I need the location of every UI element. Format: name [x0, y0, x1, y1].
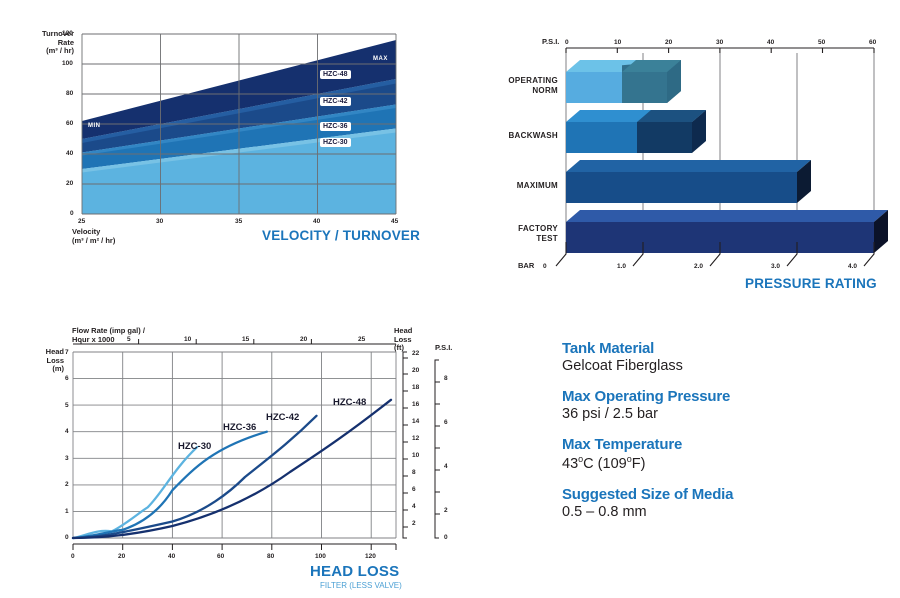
velocity-xtick-40: 40 — [313, 218, 320, 225]
pressure-cat-maximum: MAXIMUM — [470, 181, 558, 191]
headloss-fttick-2: 2 — [412, 520, 416, 527]
headloss-xtick-60: 60 — [217, 553, 224, 560]
spec-value-suggested-size-of-media: 0.5 – 0.8 mm — [562, 504, 892, 520]
pressure-cat-label-factory-test: FACTORY TEST — [470, 224, 558, 244]
headloss-plot-svg — [55, 322, 455, 562]
velocity-ytick-60: 60 — [66, 120, 73, 127]
pressure-bar-axis-label: BAR — [518, 262, 534, 271]
spec-temp-fahrenheit-value: 109 — [603, 456, 627, 472]
velocity-ytick-80: 80 — [66, 90, 73, 97]
velocity-band-label-hzc48: HZC-48 — [320, 70, 351, 79]
headloss-psitick-6: 6 — [444, 419, 448, 426]
headloss-curve-label-hzc36: HZC-36 — [223, 422, 256, 433]
headloss-fttick-22: 22 — [412, 350, 419, 357]
headloss-ytick-1: 1 — [65, 508, 69, 515]
headloss-psitick-8: 8 — [444, 375, 448, 382]
headloss-fttick-12: 12 — [412, 435, 419, 442]
headloss-fttick-4: 4 — [412, 503, 416, 510]
spec-value-max-temperature: 43oC (109oF) — [562, 454, 892, 472]
headloss-curve-label-hzc48: HZC-48 — [333, 397, 366, 408]
velocity-min-label: MIN — [88, 123, 101, 129]
headloss-right-axis-line3: (ft) — [394, 344, 412, 353]
velocity-xtick-25: 25 — [78, 218, 85, 225]
velocity-ytick-40: 40 — [66, 150, 73, 157]
headloss-ytick-7: 7 — [65, 349, 69, 356]
headloss-fttick-20: 20 — [412, 367, 419, 374]
pressure-bar-tick-2: 2.0 — [694, 263, 703, 270]
pressure-rating-chart: P.S.I. 0 10 20 30 40 50 60 — [470, 14, 900, 294]
spec-temp-fahrenheit-unit: F) — [632, 456, 646, 472]
pressure-bar-operating-norm — [566, 60, 681, 103]
spec-item-max-operating-pressure: Max Operating Pressure 36 psi / 2.5 bar — [562, 388, 892, 422]
pressure-bar-tick-3: 3.0 — [771, 263, 780, 270]
specifications-list: Tank Material Gelcoat Fiberglass Max Ope… — [562, 340, 892, 534]
spec-value-max-operating-pressure: 36 psi / 2.5 bar — [562, 406, 892, 422]
pressure-bar-factory-test — [566, 210, 888, 253]
headloss-ytick-2: 2 — [65, 481, 69, 488]
pressure-chart-title: PRESSURE RATING — [745, 276, 877, 291]
headloss-xtick-20: 20 — [118, 553, 125, 560]
velocity-band-label-hzc42: HZC-42 — [320, 97, 351, 106]
velocity-band-label-hzc36: HZC-36 — [320, 122, 351, 131]
spec-item-max-temperature: Max Temperature 43oC (109oF) — [562, 436, 892, 472]
spec-value-tank-material: Gelcoat Fiberglass — [562, 358, 892, 374]
pressure-bar-backwash — [566, 110, 706, 153]
pressure-bar-tick-4: 4.0 — [848, 263, 857, 270]
headloss-psitick-2: 2 — [444, 507, 448, 514]
head-loss-chart: Flow Rate (imp gal) / Hour x 1000 5 10 1… — [10, 322, 460, 592]
headloss-ytick-4: 4 — [65, 428, 69, 435]
headloss-fttick-8: 8 — [412, 469, 416, 476]
headloss-fttick-6: 6 — [412, 486, 416, 493]
velocity-turnover-chart: Turnover Rate (m³ / hr) — [0, 0, 450, 260]
velocity-x-axis-label: Velocity (m³ / m² / hr) — [72, 228, 115, 245]
pressure-cat-label-backwash: BACKWASH — [470, 131, 558, 141]
headloss-ytick-3: 3 — [65, 455, 69, 462]
headloss-right-axis-label: Head Loss (ft) — [394, 327, 412, 353]
pressure-cat-norm: NORM — [470, 86, 558, 96]
headloss-xtick-100: 100 — [315, 553, 326, 560]
velocity-max-label: MAX — [373, 56, 388, 62]
velocity-chart-title: VELOCITY / TURNOVER — [262, 228, 420, 243]
headloss-ytick-6: 6 — [65, 375, 69, 382]
pressure-cat-label-operating-norm: OPERATING NORM — [470, 76, 558, 96]
headloss-fttick-18: 18 — [412, 384, 419, 391]
velocity-ytick-100: 100 — [62, 60, 73, 67]
spec-heading-suggested-size-of-media: Suggested Size of Media — [562, 486, 892, 503]
pressure-bar-tick-0: 0 — [543, 263, 547, 270]
headloss-curve-label-hzc30: HZC-30 — [178, 441, 211, 452]
pressure-cat-factory: FACTORY — [470, 224, 558, 234]
headloss-psi-axis-label: P.S.I. — [435, 344, 452, 353]
spec-item-suggested-size-of-media: Suggested Size of Media 0.5 – 0.8 mm — [562, 486, 892, 520]
spec-temp-celsius-unit: C — [583, 456, 593, 472]
headloss-fttick-10: 10 — [412, 452, 419, 459]
velocity-plot-svg — [48, 26, 418, 256]
velocity-xtick-35: 35 — [235, 218, 242, 225]
headloss-xtick-80: 80 — [267, 553, 274, 560]
headloss-fttick-16: 16 — [412, 401, 419, 408]
pressure-cat-backwash: BACKWASH — [470, 131, 558, 141]
spec-heading-tank-material: Tank Material — [562, 340, 892, 357]
headloss-psitick-4: 4 — [444, 463, 448, 470]
headloss-xtick-120: 120 — [365, 553, 376, 560]
velocity-band-label-hzc30: HZC-30 — [320, 138, 351, 147]
spec-item-tank-material: Tank Material Gelcoat Fiberglass — [562, 340, 892, 374]
pressure-cat-label-maximum: MAXIMUM — [470, 181, 558, 191]
headloss-psitick-0: 0 — [444, 534, 448, 541]
headloss-ytick-5: 5 — [65, 402, 69, 409]
headloss-chart-title: HEAD LOSS — [310, 563, 399, 580]
headloss-fttick-14: 14 — [412, 418, 419, 425]
velocity-ytick-120: 120 — [62, 30, 73, 37]
headloss-curve-label-hzc42: HZC-42 — [266, 412, 299, 423]
spec-temp-celsius-value: 43 — [562, 456, 578, 472]
velocity-ytick-0: 0 — [70, 210, 74, 217]
headloss-ytick-0: 0 — [65, 534, 69, 541]
velocity-ytick-20: 20 — [66, 180, 73, 187]
velocity-xtick-30: 30 — [156, 218, 163, 225]
velocity-x-axis-label-line2: (m³ / m² / hr) — [72, 237, 115, 246]
pressure-bar-tick-1: 1.0 — [617, 263, 626, 270]
spec-heading-max-operating-pressure: Max Operating Pressure — [562, 388, 892, 405]
spec-heading-max-temperature: Max Temperature — [562, 436, 892, 453]
headloss-xtick-0: 0 — [71, 553, 75, 560]
headloss-xtick-40: 40 — [168, 553, 175, 560]
pressure-cat-operating: OPERATING — [470, 76, 558, 86]
velocity-xtick-45: 45 — [391, 218, 398, 225]
headloss-chart-subtitle: FILTER (LESS VALVE) — [320, 581, 402, 590]
spec-temp-open-paren: ( — [594, 456, 603, 472]
pressure-cat-test: TEST — [470, 234, 558, 244]
pressure-bar-maximum — [566, 160, 811, 203]
